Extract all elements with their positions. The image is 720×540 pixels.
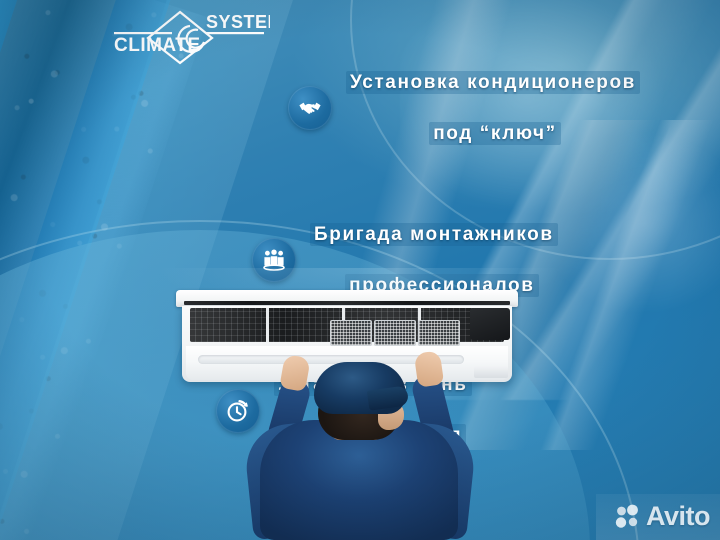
worker-cap-brim: [367, 385, 409, 410]
ac-filter: [418, 320, 460, 346]
ac-control-panel: [474, 366, 508, 378]
avito-wordmark: Avito: [646, 501, 710, 532]
feature-line-2: под “ключ”: [350, 121, 640, 147]
team-group-icon: [252, 238, 296, 282]
feature-line-1: Установка кондиционеров: [346, 70, 640, 96]
ac-front-cover: [176, 290, 518, 307]
ac-filter: [330, 320, 372, 346]
avito-dots-icon: [615, 504, 641, 530]
feature-text: Установка кондиционеров под “ключ”: [346, 44, 640, 172]
ac-side-module: [470, 308, 510, 340]
promo-banner: CLIMATE SYSTEMS Установка кондиционеров …: [0, 0, 720, 540]
avito-watermark: Avito: [615, 501, 710, 532]
technician-figure: [252, 368, 466, 540]
feature-line-1: Бригада монтажников: [310, 222, 558, 248]
logo-text-systems: SYSTEMS: [206, 12, 270, 32]
installation-scene: [0, 282, 720, 540]
ac-filter: [374, 320, 416, 346]
handshake-icon: [288, 86, 332, 130]
feature-item-turnkey-installation: Установка кондиционеров под “ключ”: [288, 44, 720, 172]
